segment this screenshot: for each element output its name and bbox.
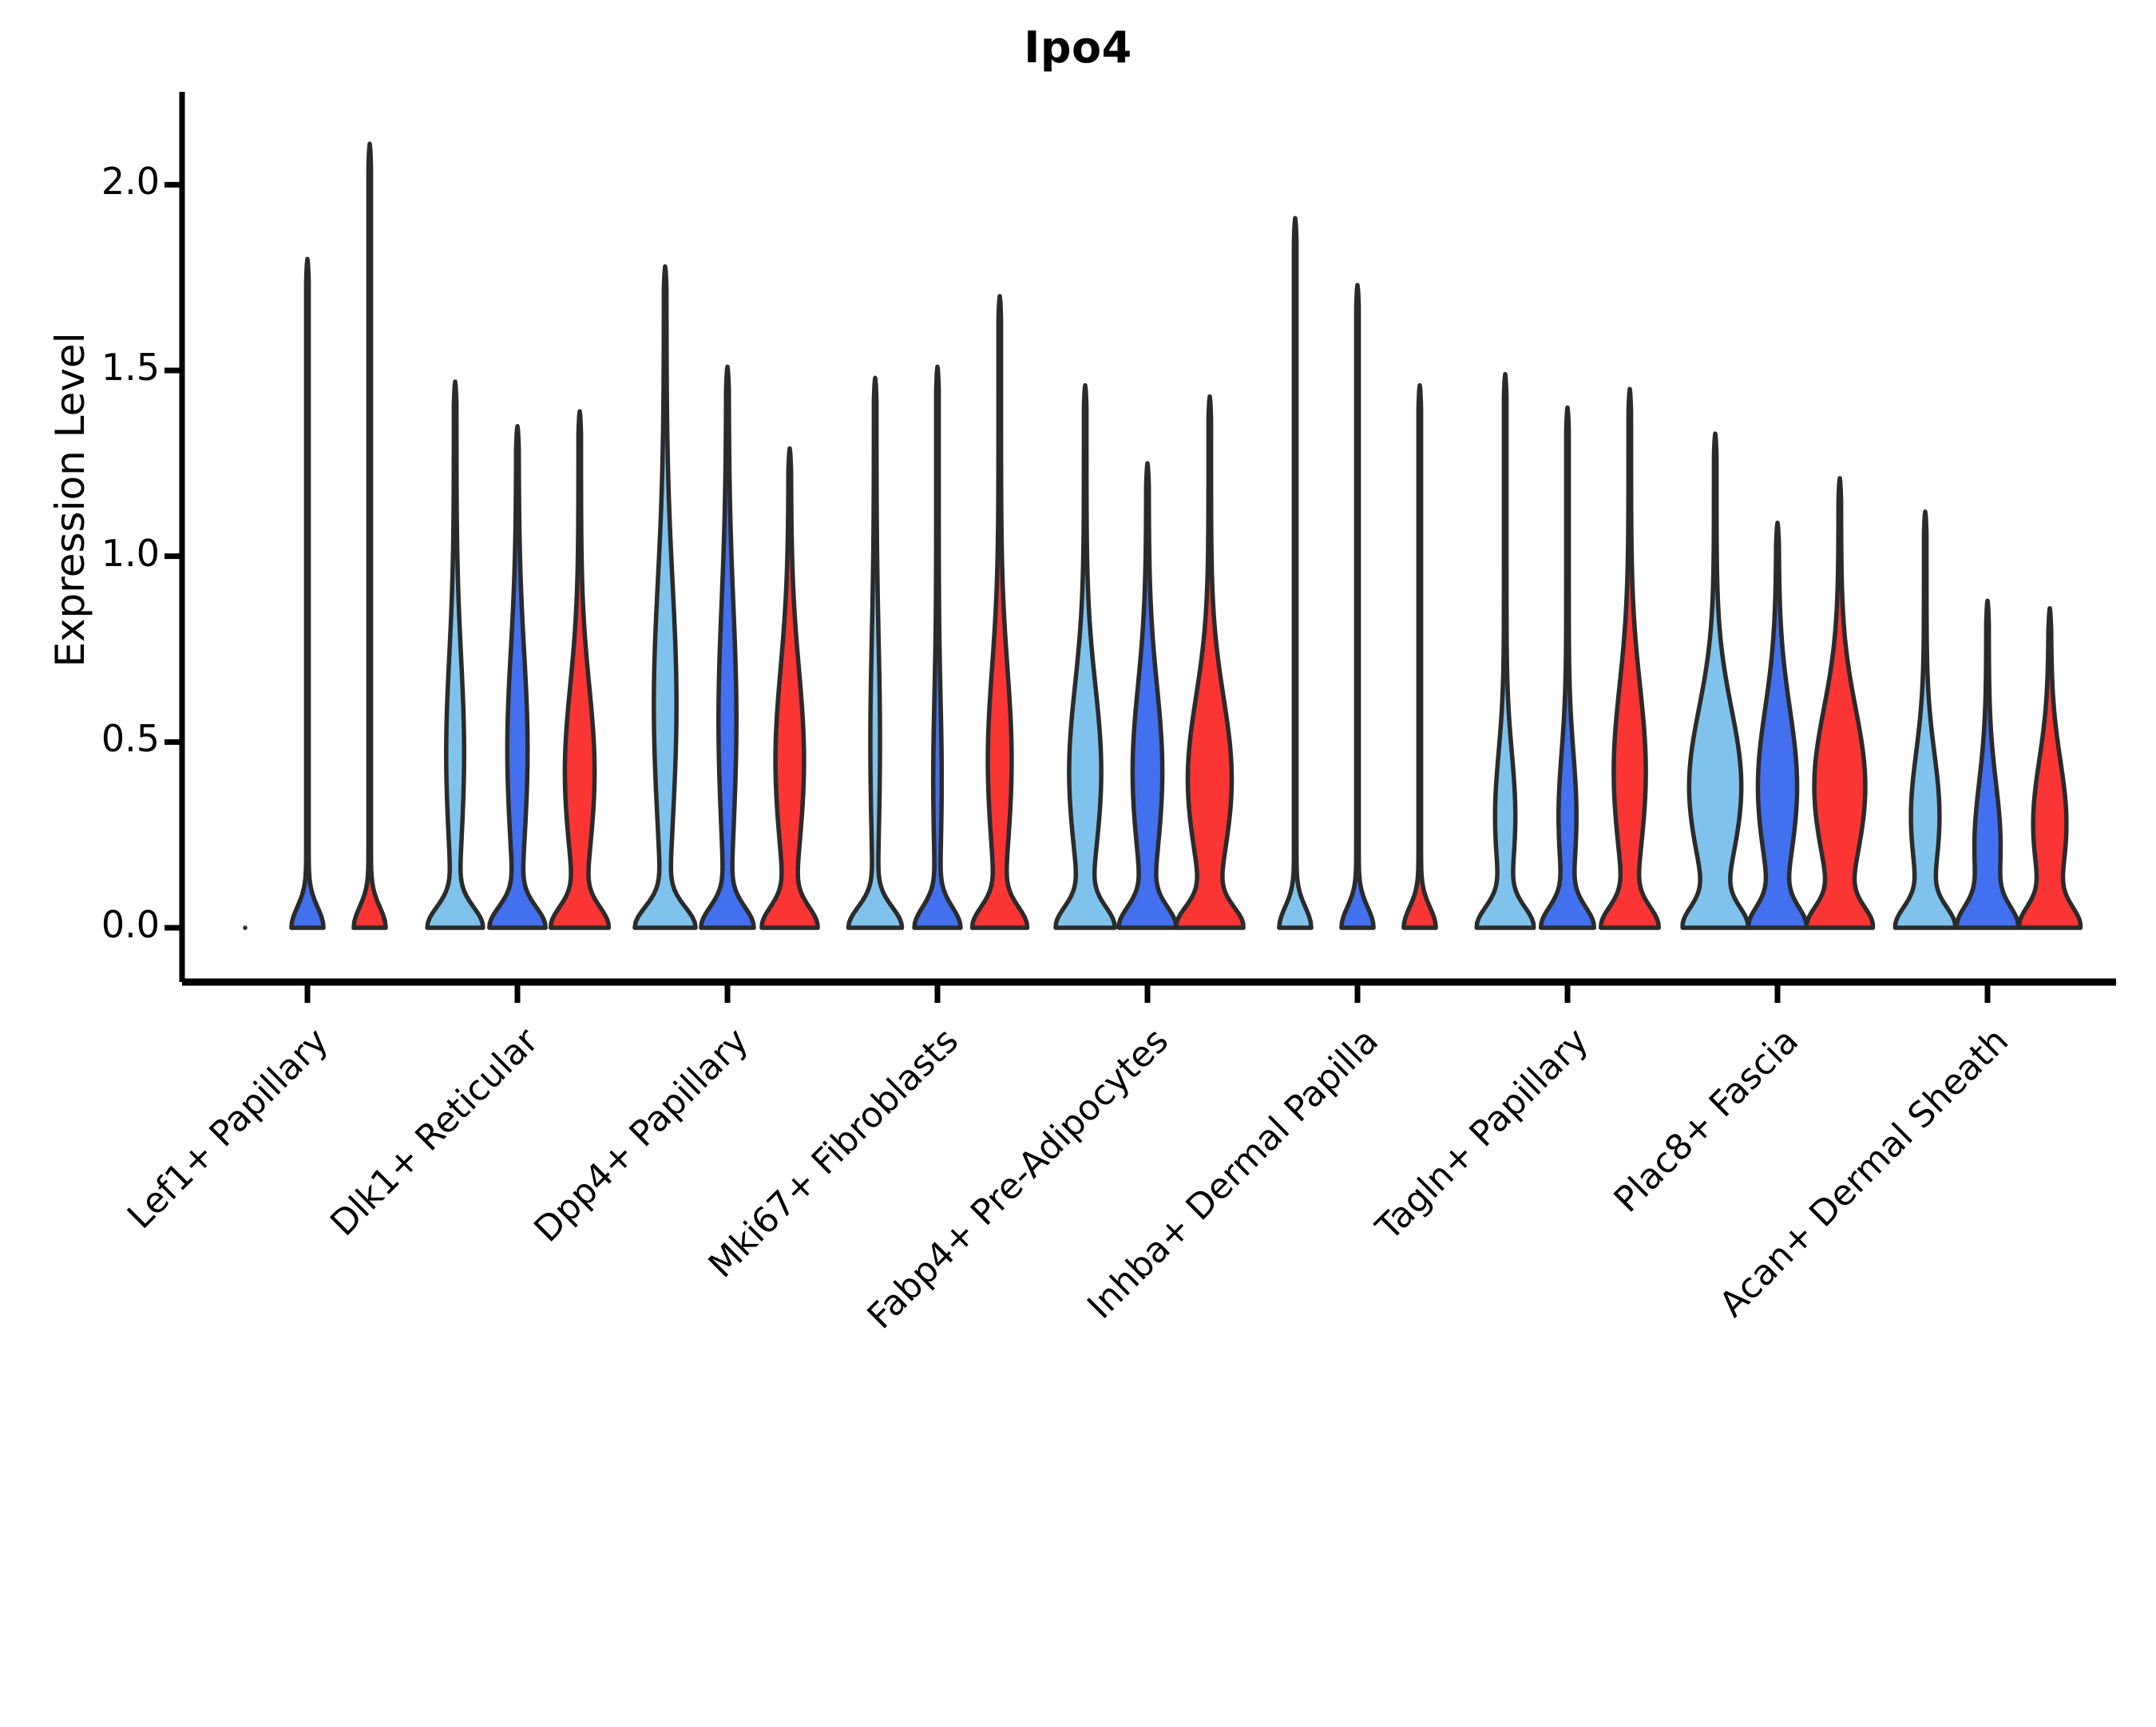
x-tick-label: Plac8+ Fascia — [1100, 1020, 1806, 1727]
violin-plot-figure: Ipo4 Expression Level 0.00.51.01.52.0 Le… — [0, 0, 2156, 1437]
x-tick-label: Fabp4+ Pre-Adipocytes — [470, 1020, 1176, 1727]
x-tick-label: Mki67+ Fibroblasts — [260, 1020, 966, 1727]
x-tick-label: Acan+ Dermal Sheath — [1310, 1020, 2016, 1727]
x-axis-tick-labels: Lef1+ PapillaryDlk1+ ReticularDpp4+ Papi… — [0, 0, 2156, 1437]
x-tick-label: Dlk1+ Reticular — [0, 1020, 546, 1727]
x-tick-label: Dpp4+ Papillary — [50, 1020, 756, 1727]
x-tick-label: Tagln+ Papillary — [890, 1020, 1596, 1727]
x-tick-label: Inhba+ Dermal Papilla — [680, 1020, 1386, 1727]
